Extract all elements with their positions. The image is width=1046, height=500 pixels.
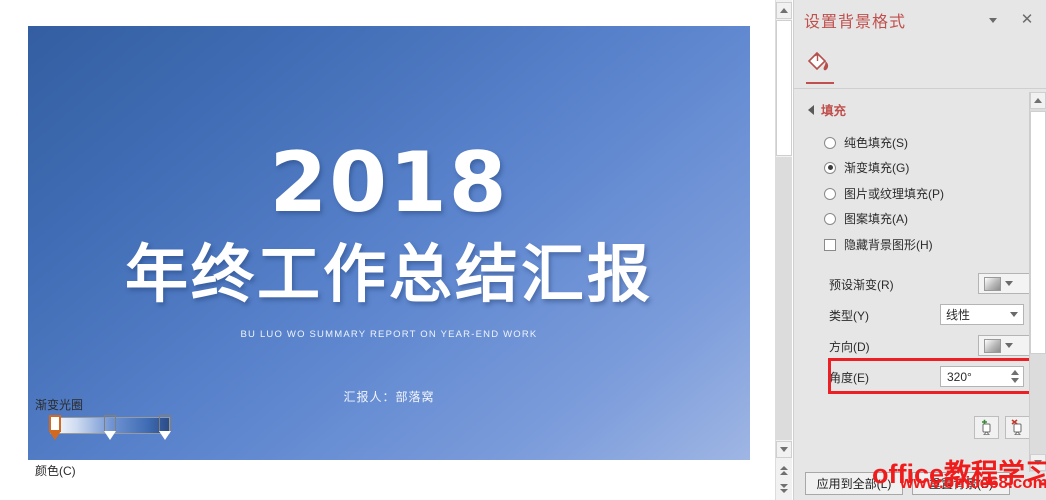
slide-vertical-scrollbar[interactable] — [775, 0, 792, 500]
remove-gradient-stop-icon[interactable] — [1005, 416, 1030, 439]
direction-swatch-icon — [984, 339, 1001, 353]
pane-vertical-scrollbar[interactable] — [1029, 92, 1046, 472]
angle-value[interactable]: 320° — [947, 370, 972, 384]
gradient-swatch-icon — [984, 277, 1001, 291]
powerpoint-window: 2018 年终工作总结汇报 BU LUO WO SUMMARY REPORT O… — [0, 0, 1046, 500]
apply-to-all-button[interactable]: 应用到全部(L) — [805, 472, 903, 495]
scroll-down-icon[interactable] — [1030, 454, 1046, 471]
chevron-down-icon[interactable] — [1010, 312, 1018, 317]
pane-header: 设置背景格式 ✕ — [794, 0, 1046, 40]
preset-gradient-label: 预设渐变(R) — [829, 276, 894, 293]
slide-canvas[interactable]: 2018 年终工作总结汇报 BU LUO WO SUMMARY REPORT O… — [28, 26, 750, 460]
scroll-up-icon[interactable] — [1030, 92, 1046, 109]
slide-presenter-text[interactable]: 汇报人：部落窝 — [28, 388, 750, 405]
stepper-down-icon[interactable] — [1011, 378, 1019, 383]
scrollbar-thumb[interactable] — [1030, 111, 1046, 354]
gradient-type-value: 线性 — [946, 306, 970, 323]
radio-indicator[interactable] — [824, 162, 836, 174]
scroll-down-icon[interactable] — [776, 441, 792, 458]
gradient-stop-handle[interactable] — [104, 415, 116, 442]
scroll-up-icon[interactable] — [776, 2, 792, 19]
chevron-down-icon[interactable] — [1005, 343, 1013, 348]
close-icon[interactable]: ✕ — [1018, 10, 1036, 28]
pane-divider — [794, 88, 1046, 89]
gradient-color-label: 颜色(C) — [35, 462, 76, 479]
radio-picture-or-texture-fill[interactable]: 图片或纹理填充(P) — [824, 185, 944, 202]
radio-label: 图案填充(A) — [844, 210, 908, 227]
caret-right-icon[interactable] — [808, 105, 814, 115]
gradient-type-label: 类型(Y) — [829, 307, 869, 324]
active-tab-underline — [806, 82, 834, 84]
radio-gradient-fill[interactable]: 渐变填充(G) — [824, 159, 909, 176]
gradient-type-dropdown[interactable]: 线性 — [940, 304, 1024, 325]
gradient-stops-label: 渐变光圈 — [35, 396, 83, 413]
checkbox-label: 隐藏背景图形(H) — [844, 236, 933, 253]
fill-section-header[interactable]: 填充 — [808, 100, 846, 119]
angle-label: 角度(E) — [829, 369, 869, 386]
add-gradient-stop-icon[interactable] — [974, 416, 999, 439]
stepper-arrows[interactable] — [1011, 370, 1019, 383]
radio-indicator[interactable] — [824, 137, 836, 149]
slide-year-text[interactable]: 2018 — [28, 141, 750, 224]
scrollbar-track[interactable] — [776, 157, 792, 440]
angle-stepper[interactable]: 320° — [940, 366, 1024, 387]
checkbox-indicator[interactable] — [824, 239, 836, 251]
slide-subtitle-text[interactable]: BU LUO WO SUMMARY REPORT ON YEAR-END WOR… — [28, 329, 750, 340]
slide-title-text[interactable]: 年终工作总结汇报 — [28, 244, 750, 307]
previous-slide-icon[interactable] — [776, 462, 792, 479]
radio-solid-fill[interactable]: 纯色填充(S) — [824, 134, 908, 151]
reset-background-button[interactable]: 重置背景(B) — [912, 472, 1010, 495]
checkbox-hide-background-graphics[interactable]: 隐藏背景图形(H) — [824, 236, 933, 253]
direction-dropdown[interactable] — [978, 335, 1030, 356]
chevron-down-icon[interactable] — [1005, 281, 1013, 286]
radio-indicator[interactable] — [824, 213, 836, 225]
chevron-down-icon[interactable] — [984, 13, 1002, 27]
paint-bucket-icon[interactable] — [806, 50, 834, 76]
direction-label: 方向(D) — [829, 338, 870, 355]
radio-label: 纯色填充(S) — [844, 134, 908, 151]
radio-pattern-fill[interactable]: 图案填充(A) — [824, 210, 908, 227]
radio-label: 渐变填充(G) — [844, 159, 909, 176]
pane-title: 设置背景格式 — [804, 8, 906, 32]
scrollbar-thumb[interactable] — [776, 20, 792, 156]
radio-label: 图片或纹理填充(P) — [844, 185, 944, 202]
gradient-stop-handle[interactable] — [159, 415, 171, 442]
gradient-stop-handle[interactable] — [49, 415, 61, 442]
stepper-up-icon[interactable] — [1011, 370, 1019, 375]
fill-section-label: 填充 — [821, 100, 846, 119]
preset-gradient-dropdown[interactable] — [978, 273, 1030, 294]
radio-indicator[interactable] — [824, 188, 836, 200]
next-slide-icon[interactable] — [776, 480, 792, 497]
